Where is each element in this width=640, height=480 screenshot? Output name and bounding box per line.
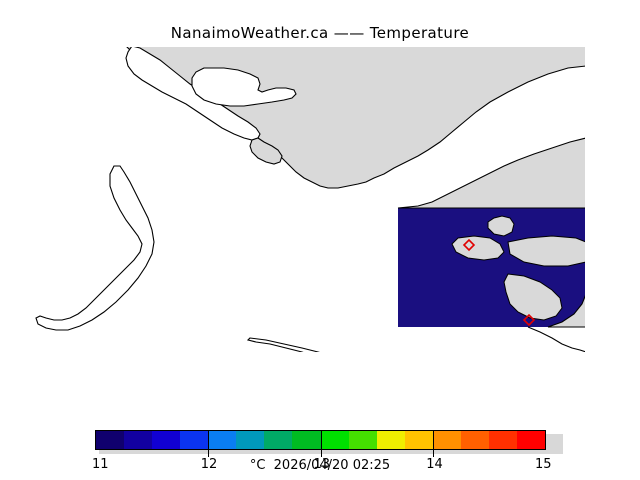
colorbar-segment-3 <box>180 431 208 449</box>
narrow-island-west <box>36 166 154 330</box>
colorbar-tick-14 <box>433 430 434 457</box>
colorbar-segment-15 <box>517 431 545 449</box>
colorbar-segment-0 <box>96 431 124 449</box>
map-canvas[interactable] <box>28 46 586 353</box>
coastline-southeast <box>528 327 586 352</box>
southern-island-chain <box>248 338 432 353</box>
colorbar-segment-10 <box>377 431 405 449</box>
colorbar-segment-12 <box>433 431 461 449</box>
colorbar-segment-11 <box>405 431 433 449</box>
colorbar-segment-9 <box>349 431 377 449</box>
colorbar-tick-12 <box>208 430 209 457</box>
colorbar-caption: °C 2026/04/20 02:25 <box>0 458 640 473</box>
colorbar-segment-6 <box>264 431 292 449</box>
colorbar-segment-7 <box>292 431 320 449</box>
colorbar-segment-1 <box>124 431 152 449</box>
colorbar-segment-13 <box>461 431 489 449</box>
weather-map-page: NanaimoWeather.ca —— Temperature <box>0 0 640 480</box>
colorbar-segment-5 <box>236 431 264 449</box>
colorbar-segment-14 <box>489 431 517 449</box>
temperature-field <box>398 138 586 327</box>
colorbar-segment-8 <box>321 431 349 449</box>
colorbar-segment-4 <box>208 431 236 449</box>
page-title: NanaimoWeather.ca —— Temperature <box>0 24 640 42</box>
colorbar[interactable]: 1112131415 <box>95 430 563 452</box>
colorbar-segment-2 <box>152 431 180 449</box>
colorbar-tick-13 <box>321 430 322 457</box>
map-panel[interactable] <box>28 46 586 353</box>
